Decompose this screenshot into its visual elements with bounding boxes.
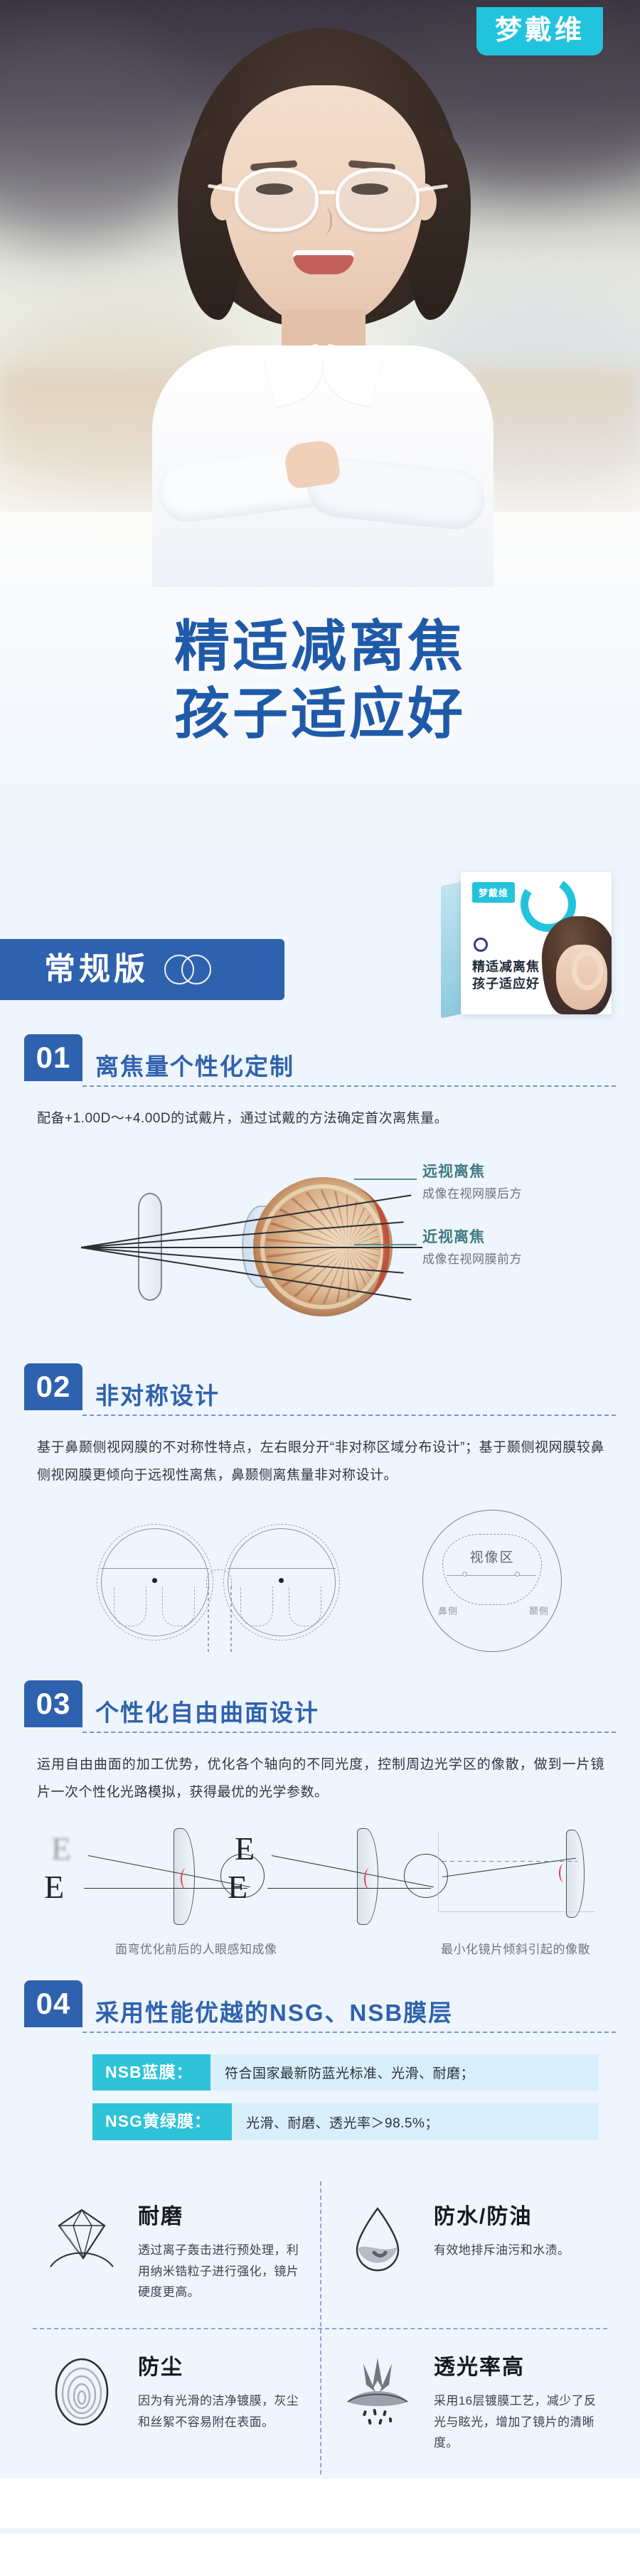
freeform-surface-diagram: E E E E <box>24 1821 616 1962</box>
feature-title: 防尘 <box>138 2349 304 2381</box>
leader-line <box>354 1244 417 1245</box>
bridge-schematic <box>206 1569 232 1588</box>
eyeglasses-bridge <box>319 190 336 194</box>
product-box-image: 梦戴维 精适减离焦 孩子适应好 <box>441 862 616 1020</box>
feature-desc: 因为有光滑的洁净镀膜，灰尘和丝絮不容易附在表面。 <box>138 2390 304 2433</box>
film-coating-list: NSB蓝膜： 符合国家最新防蓝光标准、光滑、耐磨； NSG黄绿膜： 光滑、耐磨、… <box>24 2033 616 2140</box>
feature-text: 耐磨 透过离子轰击进行预处理，利用纳米锆粒子进行强化，镜片硬度更高。 <box>138 2199 304 2303</box>
label-myopic-defocus: 近视离焦 成像在视网膜前方 <box>422 1225 522 1267</box>
caption-right: 最小化镜片倾斜引起的像散 <box>441 1939 590 1957</box>
section-02-header: 02 非对称设计 <box>24 1363 616 1415</box>
product-box-line1: 精适减离焦 <box>472 959 540 976</box>
grid-horizontal-divider <box>33 2328 607 2329</box>
label-sub: 成像在视网膜前方 <box>422 1249 522 1267</box>
eye-chart-letter: E <box>44 1868 64 1906</box>
nose-pad-line-left <box>208 1587 209 1655</box>
eye-chart-letter-blurred: E <box>51 1830 71 1867</box>
label-main: 远视离焦 <box>422 1160 522 1181</box>
optical-center-left <box>152 1578 157 1583</box>
section-01-number: 01 <box>24 1034 82 1081</box>
footer-spacer <box>0 2479 640 2528</box>
light-ray-axis <box>81 1247 422 1248</box>
defocus-zone-left-nasal <box>114 1587 146 1626</box>
section-01-body: 配备+1.00D～+4.00D的试戴片，通过试戴的方法确定首次离焦量。 <box>24 1087 616 1133</box>
zone-axis <box>447 1575 536 1576</box>
feature-waterproof-oilproof: 防水/防油 有效地排斥油污和水渍。 <box>320 2177 616 2328</box>
hero-banner: 梦戴维 精适减离焦 孩子适应好 <box>0 0 640 857</box>
brand-logo: 梦戴维 <box>476 7 603 55</box>
ray-axis <box>267 1888 431 1889</box>
product-box-child <box>542 916 612 1014</box>
section-03-title: 个性化自由曲面设计 <box>95 1701 319 1727</box>
feature-desc: 透过离子轰击进行预处理，利用纳米锆粒子进行强化，镜片硬度更高。 <box>138 2240 304 2303</box>
label-main: 近视离焦 <box>422 1225 522 1247</box>
film-row-nsb: NSB蓝膜： 符合国家最新防蓝光标准、光滑、耐磨； <box>92 2054 599 2091</box>
section-02-body: 基于鼻颞侧视网膜的不对称性特点，左右眼分开“非对称区域分布设计”；基于颞侧视网膜… <box>24 1416 616 1490</box>
feature-high-transmittance: 透光率高 采用16层镀膜工艺，减少了反光与眩光，增加了镜片的清晰度。 <box>320 2328 616 2479</box>
eye-chart-letter-bottom: E <box>228 1868 247 1906</box>
section-04: 04 采用性能优越的NSG、NSB膜层 NSB蓝膜： 符合国家最新防蓝光标准、光… <box>0 1980 640 2140</box>
section-04-header: 04 采用性能优越的NSG、NSB膜层 <box>24 1980 616 2032</box>
product-box-child-hand <box>572 950 603 990</box>
vision-zone-label: 视像区 <box>422 1547 562 1566</box>
ray-axis <box>84 1888 247 1889</box>
defocus-zone-right-nasal <box>240 1587 273 1626</box>
section-01-header: 01 离焦量个性化定制 <box>24 1034 616 1085</box>
feature-dustproof: 防尘 因为有光滑的洁净镀膜，灰尘和丝絮不容易附在表面。 <box>24 2328 320 2479</box>
feature-wear-resistant: 耐磨 透过离子轰击进行预处理，利用纳米锆粒子进行强化，镜片硬度更高。 <box>24 2177 320 2328</box>
product-box-logo: 梦戴维 <box>472 882 515 903</box>
section-04-divider <box>82 2032 616 2033</box>
caption-left: 面弯优化前后的人眼感知成像 <box>115 1939 277 1957</box>
defocus-zone-left-temporal <box>162 1587 195 1626</box>
film-tag: NSG黄绿膜： <box>92 2103 232 2140</box>
child-portrait-photo <box>0 0 640 583</box>
optical-center-right <box>279 1578 284 1583</box>
film-row-nsg: NSG黄绿膜： 光滑、耐磨、透光率＞98.5%； <box>92 2103 599 2140</box>
section-02: 02 非对称设计 基于鼻颞侧视网膜的不对称性特点，左右眼分开“非对称区域分布设计… <box>0 1363 640 1659</box>
section-02-divider <box>82 1415 616 1416</box>
asymmetric-design-diagram: 视像区 鼻侧 颞侧 <box>24 1506 616 1659</box>
hero-title: 精适减离焦 孩子适应好 <box>0 613 640 748</box>
section-01-divider <box>82 1085 616 1087</box>
defocus-arc <box>364 1868 375 1889</box>
film-description: 光滑、耐磨、透光率＞98.5%； <box>232 2103 599 2140</box>
label-hyperopic-defocus: 远视离焦 成像在视网膜后方 <box>422 1160 522 1201</box>
vision-zone-diagram: 视像区 鼻侧 颞侧 <box>422 1510 562 1652</box>
section-04-title: 采用性能优越的NSG、NSB膜层 <box>95 2001 453 2027</box>
product-box-line2: 孩子适应好 <box>472 976 540 993</box>
eye-defocus-diagram: 远视离焦 成像在视网膜后方 近视离焦 成像在视网膜前方 <box>24 1140 616 1353</box>
film-description: 符合国家最新防蓝光标准、光滑、耐磨； <box>210 2054 599 2091</box>
label-sub: 成像在视网膜后方 <box>422 1184 522 1201</box>
feature-grid: 耐磨 透过离子轰击进行预处理，利用纳米锆粒子进行强化，镜片硬度更高。 防水/防油 <box>24 2177 616 2479</box>
fingerprint-icon <box>43 2349 121 2429</box>
bottom-white-band <box>0 2533 640 2576</box>
version-row: 常规版 梦戴维 精适减离焦 孩子适应好 <box>0 857 640 1034</box>
nose-pad-line-right <box>230 1587 232 1655</box>
section-03-header: 03 个性化自由曲面设计 <box>24 1680 616 1732</box>
feature-text: 防尘 因为有光滑的洁净镀膜，灰尘和丝絮不容易附在表面。 <box>138 2349 304 2433</box>
content-sheet: 常规版 梦戴维 精适减离焦 孩子适应好 <box>0 857 640 2531</box>
feature-desc: 有效地排斥油污和水渍。 <box>434 2240 570 2261</box>
feature-desc: 采用16层镀膜工艺，减少了反光与眩光，增加了镜片的清晰度。 <box>434 2390 600 2454</box>
smiling-mouth <box>293 250 354 274</box>
lens-tilt-diagram <box>432 1824 600 1931</box>
product-landing-page: 梦戴维 精适减离焦 孩子适应好 常规版 梦戴维 <box>0 0 640 2576</box>
leader-line <box>354 1179 417 1180</box>
temporal-side-label: 颞侧 <box>529 1604 549 1617</box>
eyeglasses-lens-right <box>336 168 420 232</box>
section-01: 01 离焦量个性化定制 配备+1.00D～+4.00D的试戴片，通过试戴的方法确… <box>0 1034 640 1353</box>
venn-circles-icon <box>164 955 211 984</box>
defocus-arc <box>181 1868 192 1889</box>
nose <box>315 208 332 235</box>
eye-diagram-labels: 远视离焦 成像在视网膜后方 近视离焦 成像在视网膜前方 <box>422 1160 522 1291</box>
feature-title: 耐磨 <box>138 2199 304 2230</box>
astigmatism-marker <box>559 1864 569 1882</box>
decor-ring <box>474 938 488 952</box>
feature-text: 防水/防油 有效地排斥油污和水渍。 <box>434 2199 570 2261</box>
section-02-number: 02 <box>24 1363 82 1410</box>
section-02-title: 非对称设计 <box>95 1384 220 1410</box>
nasal-side-label: 鼻侧 <box>438 1604 458 1617</box>
eye-chart-letter-top: E <box>235 1830 255 1867</box>
version-banner: 常规版 <box>0 939 284 1000</box>
section-03-divider <box>82 1732 616 1733</box>
product-box-front: 梦戴维 精适减离焦 孩子适应好 <box>461 872 612 1014</box>
feature-title: 透光率高 <box>434 2349 600 2381</box>
version-label: 常规版 <box>44 954 149 985</box>
vision-zone-outline <box>442 1534 542 1605</box>
lens-horizon-left <box>101 1568 209 1569</box>
section-03-body: 运用自由曲面的加工优势，优化各个轴向的不同光度，控制周边光学区的像散，做到一片镜… <box>24 1733 616 1807</box>
feature-title: 防水/防油 <box>434 2199 570 2230</box>
hero-title-line1: 精适减离焦 <box>174 615 466 677</box>
water-drop-icon <box>338 2199 417 2275</box>
lens-horizon-right <box>228 1568 336 1569</box>
section-01-title: 离焦量个性化定制 <box>95 1055 294 1081</box>
film-tag: NSB蓝膜： <box>92 2054 210 2091</box>
feature-text: 透光率高 采用16层镀膜工艺，减少了反光与眩光，增加了镜片的清晰度。 <box>434 2349 600 2454</box>
product-box-text: 精适减离焦 孩子适应好 <box>472 959 540 993</box>
hero-title-line2: 孩子适应好 <box>0 680 640 748</box>
light-rays-icon <box>338 2349 417 2429</box>
defocus-zone-right-temporal <box>289 1587 321 1626</box>
section-04-number: 04 <box>24 1980 82 2027</box>
eyeglasses-schematic <box>101 1518 336 1646</box>
section-03-number: 03 <box>24 1680 82 1727</box>
section-03: 03 个性化自由曲面设计 运用自由曲面的加工优势，优化各个轴向的不同光度，控制周… <box>0 1680 640 1962</box>
eyeglasses-lens-left <box>235 168 319 232</box>
diamond-icon <box>43 2199 121 2272</box>
